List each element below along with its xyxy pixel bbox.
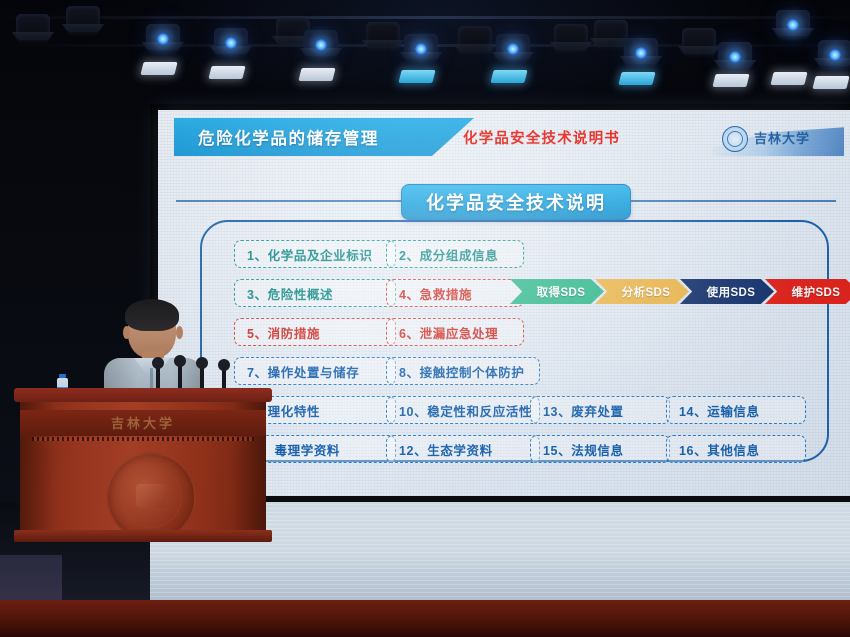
item-label: 毒理学资料 (275, 440, 341, 459)
item-number: 7、 (247, 362, 268, 381)
stage-light-panel-5 (398, 70, 435, 83)
stage-light-panel-0 (140, 62, 177, 75)
stage-light-16 (10, 14, 56, 56)
stage-light-panel-12 (712, 74, 749, 87)
list-item: 13、废弃处置 (530, 396, 670, 424)
presentation-photo: 危险化学品的储存管理 化学品安全技术说明书 吉林大学 化学品安全技术说明 1、化… (0, 0, 850, 637)
list-item: 5、消防措施 (234, 318, 396, 346)
university-logo: 吉林大学 (712, 120, 844, 156)
list-item: 8、接触控制个体防护 (386, 357, 540, 385)
item-number: 13、 (543, 401, 571, 420)
podium-engraved-text: 吉林大学 (20, 412, 266, 432)
item-label: 泄漏应急处理 (420, 323, 499, 342)
item-label: 急救措施 (420, 284, 472, 303)
item-label: 生态学资料 (427, 440, 493, 459)
item-label: 其他信息 (707, 440, 759, 459)
item-label: 操作处置与储存 (268, 362, 360, 381)
item-number: 15、 (543, 440, 571, 459)
item-number: 12、 (399, 440, 427, 459)
item-label: 法规信息 (571, 440, 623, 459)
sds-flow-step: 分析SDS (595, 279, 689, 304)
page-title: 化学品安全技术说明 (426, 189, 606, 215)
list-item: 3、危险性概述 (234, 279, 396, 307)
sds-flow-label: 分析SDS (614, 284, 671, 300)
item-number: 4、 (399, 284, 420, 303)
list-item: 16、其他信息 (666, 435, 806, 463)
stage-light-13 (770, 10, 816, 52)
slide-topic: 化学品安全技术说明书 (463, 125, 673, 149)
item-label: 消防措施 (268, 323, 320, 342)
podium-seal-icon (106, 452, 196, 542)
slide-header: 危险化学品的储存管理 化学品安全技术说明书 吉林大学 (158, 118, 850, 156)
stage-light-0 (140, 24, 186, 66)
stage-light-15 (60, 6, 106, 48)
stage-light-panel-10 (618, 72, 655, 85)
stage-light-panel-1 (208, 66, 245, 79)
logo-seal-icon (722, 126, 748, 152)
stage-light-panel-7 (490, 70, 527, 83)
stage-light-panel-13 (770, 72, 807, 85)
item-number: 6、 (399, 323, 420, 342)
item-number: 8、 (399, 362, 420, 381)
item-label: 废弃处置 (571, 401, 623, 420)
list-item: 6、泄漏应急处理 (386, 318, 524, 346)
item-number: 5、 (247, 323, 268, 342)
list-item: 15、法规信息 (530, 435, 670, 463)
list-item: 10、稳定性和反应活性 (386, 396, 540, 424)
slide-title-pill: 化学品安全技术说明 (401, 184, 631, 220)
item-number: 1、 (247, 245, 268, 264)
stage-step (0, 555, 62, 603)
list-item: 1、化学品及企业标识 (234, 240, 396, 268)
sds-flow-step: 使用SDS (680, 279, 774, 304)
item-number: 2、 (399, 245, 420, 264)
stage-light-3 (298, 30, 344, 72)
sds-flow-label: 取得SDS (529, 284, 586, 300)
stage-light-1 (208, 28, 254, 70)
logo-text: 吉林大学 (754, 128, 810, 147)
item-label: 稳定性和反应活性 (427, 401, 532, 420)
item-number: 16、 (679, 440, 707, 459)
list-item: 14、运输信息 (666, 396, 806, 424)
stage-light-panel-3 (298, 68, 335, 81)
speaker-hair (125, 299, 179, 331)
stage-front-apron (0, 600, 850, 637)
sds-flow-step: 维护SDS (765, 279, 850, 304)
item-label: 危险性概述 (268, 284, 334, 303)
podium-top (14, 388, 272, 402)
podium: 吉林大学 (14, 388, 272, 548)
item-label: 接触控制个体防护 (420, 362, 525, 381)
sds-flow-label: 使用SDS (699, 284, 756, 300)
list-item: 4、急救措施 (386, 279, 524, 307)
list-item: 12、生态学资料 (386, 435, 540, 463)
item-number: 14、 (679, 401, 707, 420)
item-number: 10、 (399, 401, 427, 420)
stage-light-panel-14 (812, 76, 849, 89)
speaker-ear-right (176, 326, 183, 339)
sds-flow-label: 维护SDS (784, 284, 841, 300)
speaker-ear-left (123, 326, 130, 339)
podium-trim (32, 437, 254, 441)
sds-flow-step: 取得SDS (510, 279, 604, 304)
item-label: 运输信息 (707, 401, 759, 420)
list-item: 2、成分组成信息 (386, 240, 524, 268)
item-label: 化学品及企业标识 (268, 245, 373, 264)
list-item: 7、操作处置与储存 (234, 357, 396, 385)
podium-base (14, 530, 272, 542)
slide-section-band: 危险化学品的储存管理 (174, 118, 474, 156)
slide-topic-label: 化学品安全技术说明书 (463, 127, 620, 148)
slide-section-label: 危险化学品的储存管理 (174, 125, 379, 149)
item-label: 成分组成信息 (420, 245, 499, 264)
item-number: 3、 (247, 284, 268, 303)
item-label: 理化特性 (268, 401, 320, 420)
